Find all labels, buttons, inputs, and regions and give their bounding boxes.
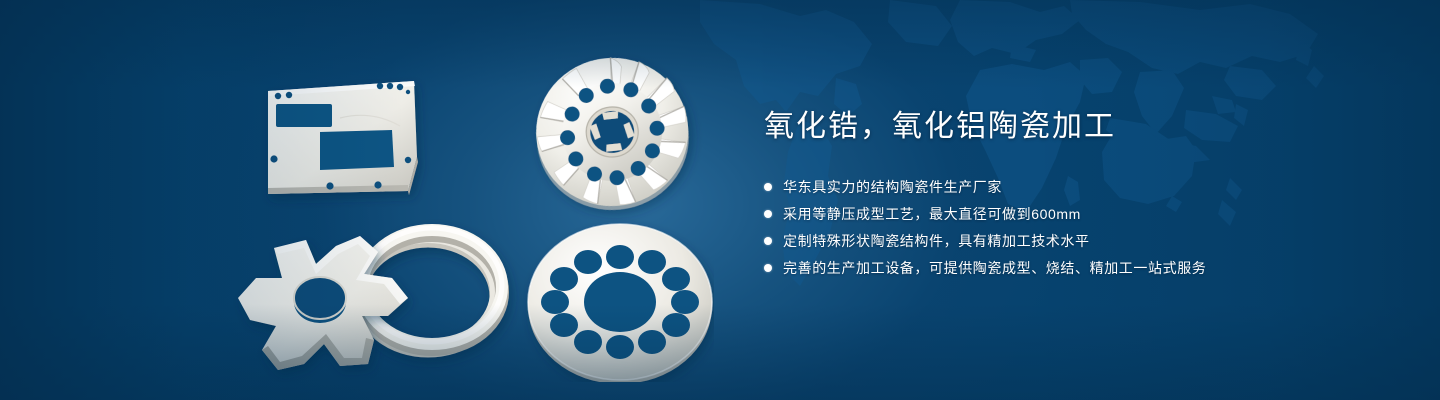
feature-text: 完善的生产加工设备，可提供陶瓷成型、烧结、精加工一站式服务 xyxy=(783,257,1206,279)
promo-banner: 氧化锆，氧化铝陶瓷加工 华东具实力的结构陶瓷件生产厂家 采用等静压成型工艺，最大… xyxy=(0,0,1440,400)
bullet-dot-icon xyxy=(764,237,772,245)
feature-list: 华东具实力的结构陶瓷件生产厂家 采用等静压成型工艺，最大直径可做到600mm 定… xyxy=(764,176,1324,279)
list-item: 华东具实力的结构陶瓷件生产厂家 xyxy=(764,176,1324,198)
banner-headline: 氧化锆，氧化铝陶瓷加工 xyxy=(764,108,1324,146)
feature-text: 华东具实力的结构陶瓷件生产厂家 xyxy=(783,176,1002,198)
list-item: 定制特殊形状陶瓷结构件，具有精加工技术水平 xyxy=(764,230,1324,252)
bullet-dot-icon xyxy=(764,183,772,191)
list-item: 采用等静压成型工艺，最大直径可做到600mm xyxy=(764,203,1324,225)
bullet-dot-icon xyxy=(764,264,772,272)
bullet-dot-icon xyxy=(764,210,772,218)
feature-text: 定制特殊形状陶瓷结构件，具有精加工技术水平 xyxy=(783,230,1090,252)
banner-copy: 氧化锆，氧化铝陶瓷加工 华东具实力的结构陶瓷件生产厂家 采用等静压成型工艺，最大… xyxy=(764,108,1324,284)
feature-text: 采用等静压成型工艺，最大直径可做到600mm xyxy=(783,203,1081,225)
list-item: 完善的生产加工设备，可提供陶瓷成型、烧结、精加工一站式服务 xyxy=(764,257,1324,279)
